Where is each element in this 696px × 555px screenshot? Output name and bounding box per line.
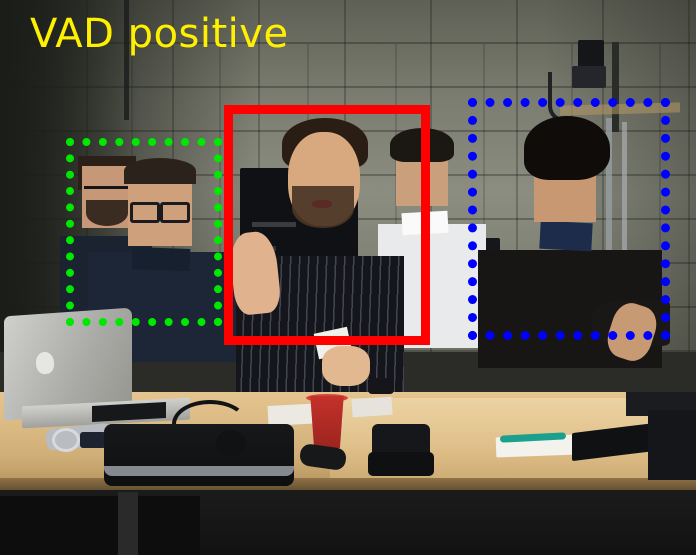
laptop-sleeve: [104, 424, 294, 486]
floor-shadow: [0, 496, 200, 555]
computer-tower-right: [648, 410, 696, 480]
earbuds: [216, 430, 246, 456]
camera-mount: [572, 66, 606, 88]
papers-secondary: [351, 397, 392, 418]
person-3-watch: [368, 378, 394, 394]
annotated-video-frame: VAD positive: [0, 0, 696, 555]
key-fob: [80, 432, 106, 448]
black-pouch-base: [368, 452, 434, 476]
table-leg: [118, 492, 138, 555]
green-dotted-bbox: [66, 138, 222, 326]
apple-logo-icon: [35, 351, 54, 374]
red-solid-bbox: [224, 105, 430, 345]
blue-dotted-bbox: [468, 98, 670, 340]
laptop-sleeve-trim: [104, 466, 294, 476]
person-3-lower-hand: [322, 346, 370, 386]
key-ring-loop-icon: [52, 428, 80, 452]
vad-status-label: VAD positive: [30, 14, 289, 54]
red-cup: [308, 396, 346, 448]
